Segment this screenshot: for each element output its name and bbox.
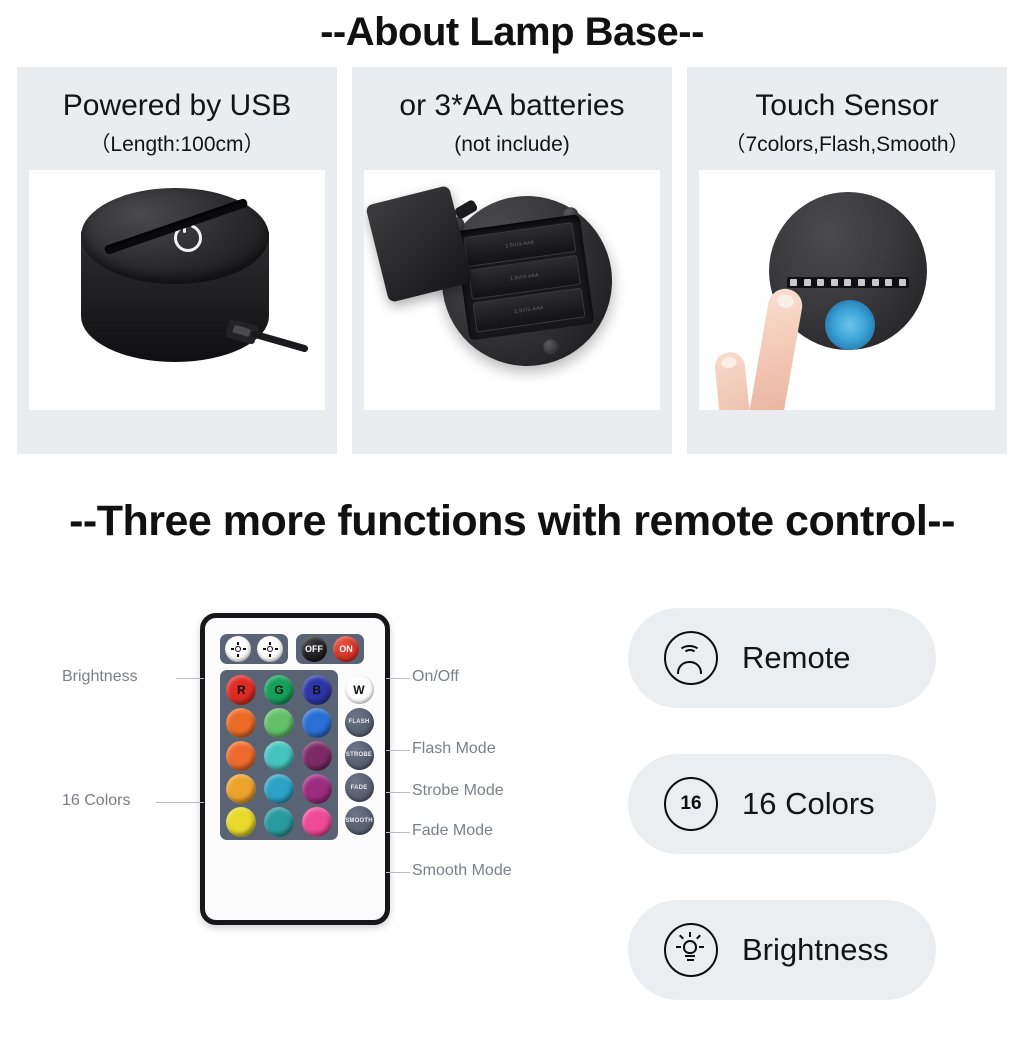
card-subtitle: (not include) — [454, 133, 570, 157]
brightness-up-icon — [232, 643, 245, 656]
callout-flash-mode: Flash Mode — [412, 740, 496, 758]
sixteen-icon: 16 — [664, 777, 718, 831]
color-button-10[interactable] — [226, 774, 256, 804]
mode-button-fade[interactable]: FADE — [345, 773, 374, 802]
color-button-6[interactable] — [302, 708, 332, 738]
color-button-13[interactable] — [226, 807, 256, 837]
mode-button-flash[interactable]: FLASH — [345, 708, 374, 737]
color-button-3[interactable]: B — [302, 675, 332, 705]
callout-leader-line — [386, 678, 410, 679]
color-button-11[interactable] — [264, 774, 294, 804]
photo-usb-lamp-base — [29, 170, 325, 410]
callout-smooth-mode: Smooth Mode — [412, 862, 512, 880]
page-title-remote-functions: --Three more functions with remote contr… — [0, 495, 1024, 547]
brightness-down-button[interactable] — [257, 636, 283, 662]
card-powered-by-usb: Powered by USB （Length:100cm） — [17, 67, 337, 454]
feature-label: 16 Colors — [742, 786, 875, 822]
remote-on-button[interactable]: ON — [333, 636, 359, 662]
color-button-12[interactable] — [302, 774, 332, 804]
usb-cable — [251, 330, 309, 353]
feature-pill-list: Remote 16 16 Colors Brightness — [628, 608, 938, 1046]
brightness-icon — [664, 923, 718, 977]
feature-label: Remote — [742, 640, 851, 676]
feature-pill-remote[interactable]: Remote — [628, 608, 936, 708]
mode-button-strobe[interactable]: STROBE — [345, 741, 374, 770]
feature-label: Brightness — [742, 932, 888, 968]
color-button-9[interactable] — [302, 741, 332, 771]
card-title: Powered by USB — [63, 89, 291, 123]
led-dot — [817, 279, 824, 286]
card-subtitle: （7colors,Flash,Smooth） — [724, 133, 969, 157]
card-subtitle: （Length:100cm） — [89, 133, 264, 157]
callout-on-off: On/Off — [412, 668, 459, 686]
callout-leader-line — [386, 750, 410, 751]
led-dot — [885, 279, 892, 286]
remote-mode-column: WFLASHSTROBEFADESMOOTH — [342, 670, 376, 840]
brightness-button-group — [220, 634, 288, 664]
led-dot — [844, 279, 851, 286]
lamp-base-card-row: Powered by USB （Length:100cm） or 3*AA ba… — [17, 67, 1007, 454]
callout-leader-line — [176, 678, 204, 679]
card-aa-batteries: or 3*AA batteries (not include) 1.5V/3-A… — [352, 67, 672, 454]
color-button-7[interactable] — [226, 741, 256, 771]
feature-pill-16-colors[interactable]: 16 16 Colors — [628, 754, 936, 854]
battery-lid — [365, 185, 473, 303]
remote-top-row: OFF ON — [220, 634, 372, 664]
power-button-group: OFF ON — [296, 634, 364, 664]
remote-icon — [664, 631, 718, 685]
callout-leader-line — [386, 792, 410, 793]
photo-touch-sensor — [699, 170, 995, 410]
color-button-5[interactable] — [264, 708, 294, 738]
led-dot — [858, 279, 865, 286]
led-dot — [831, 279, 838, 286]
led-strip — [787, 277, 909, 288]
feature-pill-brightness[interactable]: Brightness — [628, 900, 936, 1000]
color-button-4[interactable] — [226, 708, 256, 738]
remote-color-pad: RGB — [220, 670, 338, 840]
photo-battery-compartment: 1.5V/3-AAA 1.5V/3-AAA 1.5V/3-AAA — [364, 170, 660, 410]
led-dot — [790, 279, 797, 286]
brightness-up-button[interactable] — [225, 636, 251, 662]
mode-button-smooth[interactable]: SMOOTH — [345, 806, 374, 835]
remote-control-body: OFF ON RGB WFLASHSTROBEFADESMOOTH — [200, 613, 390, 925]
color-button-14[interactable] — [264, 807, 294, 837]
color-button-8[interactable] — [264, 741, 294, 771]
color-button-1[interactable]: R — [226, 675, 256, 705]
card-title: or 3*AA batteries — [399, 89, 624, 123]
callout-fade-mode: Fade Mode — [412, 822, 493, 840]
callout-leader-line — [156, 802, 204, 803]
callout-leader-line — [386, 872, 410, 873]
callout-16-colors: 16 Colors — [62, 792, 130, 810]
card-title: Touch Sensor — [755, 89, 938, 123]
remote-control-diagram: OFF ON RGB WFLASHSTROBEFADESMOOTH — [200, 613, 390, 925]
callout-brightness: Brightness — [62, 668, 138, 686]
mode-button-w[interactable]: W — [345, 675, 374, 704]
screw-icon — [542, 338, 559, 355]
color-button-2[interactable]: G — [264, 675, 294, 705]
led-dot — [804, 279, 811, 286]
battery-well: 1.5V/3-AAA 1.5V/3-AAA 1.5V/3-AAA — [454, 214, 594, 340]
remote-off-button[interactable]: OFF — [301, 636, 327, 662]
hand-thumb — [713, 351, 750, 410]
callout-leader-line — [386, 832, 410, 833]
touch-sensor-glow — [825, 300, 875, 350]
page-title-lamp-base: --About Lamp Base-- — [0, 8, 1024, 56]
led-dot — [899, 279, 906, 286]
brightness-down-icon — [264, 643, 277, 656]
color-button-15[interactable] — [302, 807, 332, 837]
callout-strobe-mode: Strobe Mode — [412, 782, 504, 800]
led-dot — [872, 279, 879, 286]
hand-index-finger — [747, 286, 805, 410]
card-touch-sensor: Touch Sensor （7colors,Flash,Smooth） — [687, 67, 1007, 454]
